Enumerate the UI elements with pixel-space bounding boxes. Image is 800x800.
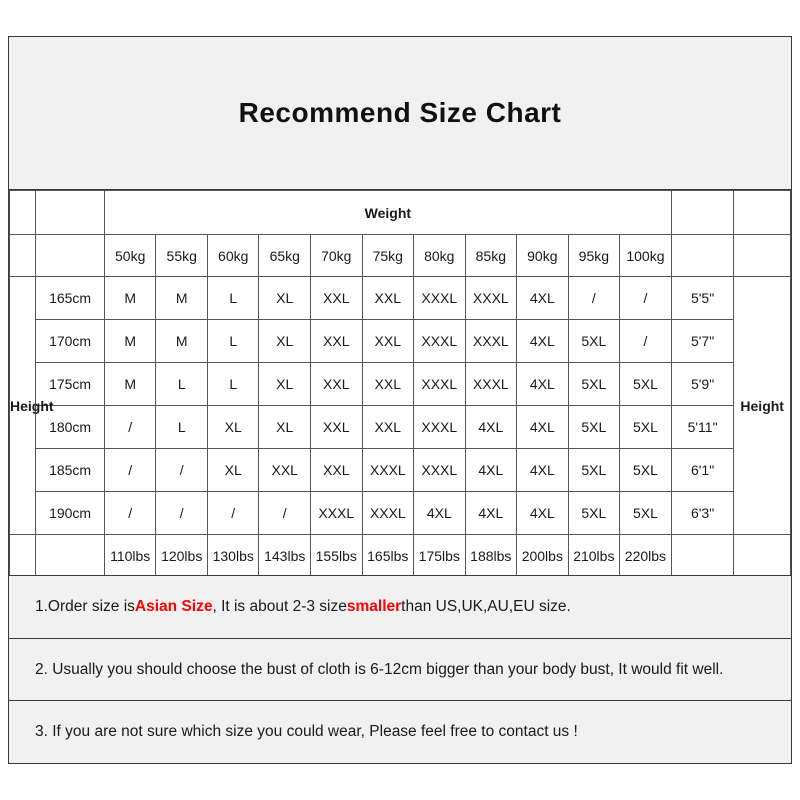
row-height-cm-4: 185cm — [36, 449, 105, 492]
weight-lbs-5: 165lbs — [362, 535, 414, 577]
row-height-ft-2: 5'9" — [671, 363, 734, 406]
size-cell-r4c7: 4XL — [465, 449, 517, 492]
weight-lbs-7: 188lbs — [465, 535, 517, 577]
row-height-ft-3: 5'11" — [671, 406, 734, 449]
size-cell-r4c4: XXL — [311, 449, 363, 492]
corner-blank-topright — [734, 191, 791, 235]
size-cell-r3c3: XL — [259, 406, 311, 449]
weight-kg-9: 95kg — [568, 235, 620, 277]
corner-cell-topright — [671, 191, 734, 235]
size-cell-r3c0: / — [104, 406, 156, 449]
note-3-part-0: 3. If you are not sure which size you co… — [35, 723, 578, 741]
size-cell-r0c2: L — [207, 277, 259, 320]
size-cell-r0c4: XXL — [311, 277, 363, 320]
lbs-row-label-blank — [36, 535, 105, 577]
size-cell-r3c8: 4XL — [517, 406, 569, 449]
size-cell-r4c10: 5XL — [620, 449, 672, 492]
size-cell-r1c8: 4XL — [517, 320, 569, 363]
size-cell-r4c1: / — [156, 449, 208, 492]
weight-kg-3: 65kg — [259, 235, 311, 277]
kg-row-edge-right — [734, 235, 791, 277]
size-cell-r1c7: XXXL — [465, 320, 517, 363]
size-cell-r0c6: XXXL — [414, 277, 466, 320]
page-title: Recommend Size Chart — [239, 97, 562, 129]
size-cell-r2c5: XXL — [362, 363, 414, 406]
size-cell-r0c10: / — [620, 277, 672, 320]
size-cell-r4c0: / — [104, 449, 156, 492]
size-cell-r0c9: / — [568, 277, 620, 320]
row-height-cm-1: 170cm — [36, 320, 105, 363]
size-cell-r2c2: L — [207, 363, 259, 406]
size-cell-r2c8: 4XL — [517, 363, 569, 406]
size-cell-r3c10: 5XL — [620, 406, 672, 449]
size-cell-r5c1: / — [156, 492, 208, 535]
note-3: 3. If you are not sure which size you co… — [9, 701, 791, 763]
size-cell-r2c1: L — [156, 363, 208, 406]
size-cell-r0c0: M — [104, 277, 156, 320]
size-cell-r5c8: 4XL — [517, 492, 569, 535]
weight-kg-row: 50kg 55kg 60kg 65kg 70kg 75kg 80kg 85kg … — [10, 235, 791, 277]
size-cell-r5c10: 5XL — [620, 492, 672, 535]
size-cell-r4c2: XL — [207, 449, 259, 492]
size-cell-r4c9: 5XL — [568, 449, 620, 492]
size-cell-r3c7: 4XL — [465, 406, 517, 449]
size-cell-r5c9: 5XL — [568, 492, 620, 535]
size-cell-r2c4: XXL — [311, 363, 363, 406]
table-row: 170cm M M L XL XXL XXL XXXL XXXL 4XL 5XL… — [10, 320, 791, 363]
size-cell-r2c3: XL — [259, 363, 311, 406]
size-table: Weight 50kg 55kg 60kg 65kg 70kg 75kg 80k… — [9, 190, 791, 621]
size-cell-r2c10: 5XL — [620, 363, 672, 406]
weight-lbs-6: 175lbs — [414, 535, 466, 577]
size-cell-r5c7: 4XL — [465, 492, 517, 535]
row-height-ft-1: 5'7" — [671, 320, 734, 363]
table-row: 175cm M L L XL XXL XXL XXXL XXXL 4XL 5XL… — [10, 363, 791, 406]
weight-kg-0: 50kg — [104, 235, 156, 277]
row-height-ft-0: 5'5" — [671, 277, 734, 320]
size-cell-r4c6: XXXL — [414, 449, 466, 492]
weight-lbs-9: 210lbs — [568, 535, 620, 577]
size-cell-r4c8: 4XL — [517, 449, 569, 492]
lbs-row-edge-right — [734, 535, 791, 577]
size-cell-r0c1: M — [156, 277, 208, 320]
weight-kg-8: 90kg — [517, 235, 569, 277]
size-cell-r5c3: / — [259, 492, 311, 535]
size-cell-r3c6: XXXL — [414, 406, 466, 449]
kg-row-edge-left — [10, 235, 36, 277]
weight-lbs-4: 155lbs — [311, 535, 363, 577]
weight-lbs-row: 110lbs 120lbs 130lbs 143lbs 155lbs 165lb… — [10, 535, 791, 577]
size-cell-r3c9: 5XL — [568, 406, 620, 449]
note-1-part-3: smaller — [347, 598, 401, 616]
size-chart-root: Recommend Size Chart Weight — [8, 36, 792, 764]
lbs-row-ft-blank — [671, 535, 734, 577]
size-cell-r3c1: L — [156, 406, 208, 449]
note-2-part-0: 2. Usually you should choose the bust of… — [35, 661, 723, 679]
size-cell-r5c4: XXXL — [311, 492, 363, 535]
size-cell-r2c7: XXXL — [465, 363, 517, 406]
row-height-ft-4: 6'1" — [671, 449, 734, 492]
note-1: 1.Order size is Asian Size, It is about … — [9, 576, 791, 639]
row-height-cm-0: 165cm — [36, 277, 105, 320]
note-1-part-1: Asian Size — [135, 598, 213, 616]
size-cell-r2c9: 5XL — [568, 363, 620, 406]
size-cell-r3c2: XL — [207, 406, 259, 449]
size-cell-r0c3: XL — [259, 277, 311, 320]
weight-lbs-0: 110lbs — [104, 535, 156, 577]
size-cell-r2c6: XXXL — [414, 363, 466, 406]
weight-kg-1: 55kg — [156, 235, 208, 277]
weight-kg-6: 80kg — [414, 235, 466, 277]
weight-lbs-2: 130lbs — [207, 535, 259, 577]
size-cell-r4c5: XXXL — [362, 449, 414, 492]
notes-section: 1.Order size is Asian Size, It is about … — [9, 575, 791, 763]
size-cell-r0c7: XXXL — [465, 277, 517, 320]
size-cell-r1c6: XXXL — [414, 320, 466, 363]
size-cell-r3c4: XXL — [311, 406, 363, 449]
size-cell-r5c5: XXXL — [362, 492, 414, 535]
lbs-row-edge-left — [10, 535, 36, 577]
weight-kg-4: 70kg — [311, 235, 363, 277]
height-label-right: Height — [734, 277, 791, 535]
corner-cell-topleft — [36, 191, 105, 235]
row-height-cm-5: 190cm — [36, 492, 105, 535]
corner-blank-topleft — [10, 191, 36, 235]
weight-lbs-3: 143lbs — [259, 535, 311, 577]
weight-lbs-1: 120lbs — [156, 535, 208, 577]
size-grid-area: Weight 50kg 55kg 60kg 65kg 70kg 75kg 80k… — [9, 190, 791, 575]
size-table-body: Weight 50kg 55kg 60kg 65kg 70kg 75kg 80k… — [10, 191, 791, 621]
kg-row-ft-blank — [671, 235, 734, 277]
height-label-left: Height — [10, 277, 36, 535]
size-cell-r1c9: 5XL — [568, 320, 620, 363]
size-cell-r1c1: M — [156, 320, 208, 363]
weight-lbs-10: 220lbs — [620, 535, 672, 577]
size-cell-r1c3: XL — [259, 320, 311, 363]
title-band: Recommend Size Chart — [9, 37, 791, 190]
note-1-part-4: than US,UK,AU,EU size. — [401, 598, 571, 616]
table-row: 185cm / / XL XXL XXL XXXL XXXL 4XL 4XL 5… — [10, 449, 791, 492]
weight-banner-row: Weight — [10, 191, 791, 235]
size-cell-r4c3: XXL — [259, 449, 311, 492]
size-cell-r1c5: XXL — [362, 320, 414, 363]
note-1-part-2: , It is about 2-3 size — [212, 598, 346, 616]
table-row: 190cm / / / / XXXL XXXL 4XL 4XL 4XL 5XL … — [10, 492, 791, 535]
weight-header-top: Weight — [104, 191, 671, 235]
weight-lbs-8: 200lbs — [517, 535, 569, 577]
weight-kg-2: 60kg — [207, 235, 259, 277]
table-row: Height 165cm M M L XL XXL XXL XXXL XXXL … — [10, 277, 791, 320]
note-1-part-0: 1.Order size is — [35, 598, 135, 616]
size-cell-r3c5: XXL — [362, 406, 414, 449]
weight-kg-5: 75kg — [362, 235, 414, 277]
size-cell-r0c8: 4XL — [517, 277, 569, 320]
table-row: 180cm / L XL XL XXL XXL XXXL 4XL 4XL 5XL… — [10, 406, 791, 449]
size-cell-r5c6: 4XL — [414, 492, 466, 535]
size-cell-r1c0: M — [104, 320, 156, 363]
row-height-ft-5: 6'3" — [671, 492, 734, 535]
size-cell-r1c4: XXL — [311, 320, 363, 363]
size-cell-r2c0: M — [104, 363, 156, 406]
kg-row-label-blank — [36, 235, 105, 277]
size-cell-r5c2: / — [207, 492, 259, 535]
weight-kg-10: 100kg — [620, 235, 672, 277]
weight-kg-7: 85kg — [465, 235, 517, 277]
size-cell-r1c2: L — [207, 320, 259, 363]
note-2: 2. Usually you should choose the bust of… — [9, 639, 791, 702]
size-cell-r1c10: / — [620, 320, 672, 363]
size-cell-r0c5: XXL — [362, 277, 414, 320]
size-cell-r5c0: / — [104, 492, 156, 535]
